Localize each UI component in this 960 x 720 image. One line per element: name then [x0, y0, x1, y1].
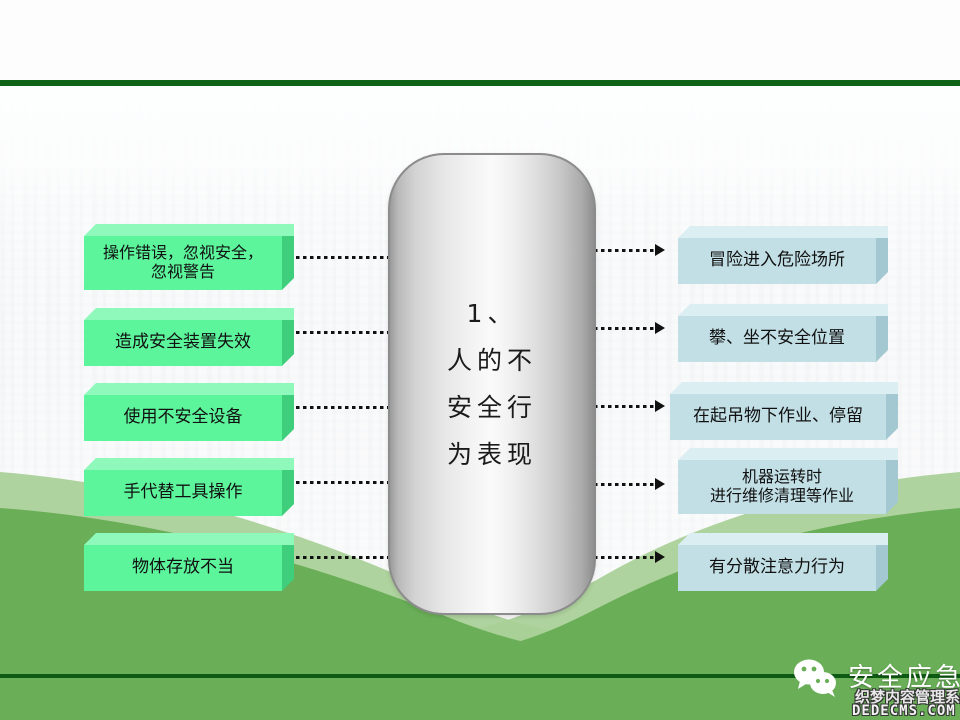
arrow-head-right-4	[655, 478, 665, 490]
top-divider-rule	[0, 80, 960, 86]
left-box-3-front-face: 使用不安全设备	[84, 395, 282, 441]
right-box-4[interactable]: 机器运转时 进行维修清理等作业	[678, 448, 886, 514]
right-box-1-label: 冒险进入危险场所	[709, 251, 845, 271]
connector-right-4	[594, 483, 656, 486]
connector-left-2	[296, 331, 396, 334]
connector-right-2	[594, 327, 656, 330]
connector-left-3	[296, 406, 396, 409]
arrow-head-right-1	[655, 244, 665, 256]
connector-right-5	[594, 556, 656, 559]
left-box-3-label: 使用不安全设备	[124, 408, 243, 428]
center-topic-shape[interactable]: 1、 人的不 安全行 为表现	[388, 153, 596, 615]
connector-left-4	[296, 481, 396, 484]
right-box-2-top-face	[678, 304, 888, 316]
left-box-5[interactable]: 物体存放不当	[84, 533, 282, 591]
connector-left-1	[296, 256, 396, 259]
left-box-3-top-face	[84, 383, 294, 395]
right-box-1-top-face	[678, 226, 888, 238]
right-box-1-front-face: 冒险进入危险场所	[678, 238, 876, 284]
left-box-4-label: 手代替工具操作	[124, 483, 243, 503]
right-box-3-label: 在起吊物下作业、停留	[693, 407, 863, 427]
center-line-3: 安全行	[447, 395, 537, 420]
right-box-5-front-face: 有分散注意力行为	[678, 545, 876, 591]
left-box-1-label-line1: 操作错误，忽视安全，	[103, 244, 263, 263]
left-box-2-front-face: 造成安全装置失效	[84, 320, 282, 366]
arrow-head-right-5	[655, 551, 665, 563]
right-box-4-top-face	[678, 448, 898, 460]
left-box-1-front-face: 操作错误，忽视安全， 忽视警告	[84, 236, 282, 290]
right-box-2[interactable]: 攀、坐不安全位置	[678, 304, 876, 362]
arrow-head-right-2	[655, 322, 665, 334]
right-box-1[interactable]: 冒险进入危险场所	[678, 226, 876, 284]
left-box-2-top-face	[84, 308, 294, 320]
left-box-1-label-line2: 忽视警告	[151, 263, 215, 282]
connector-right-3	[594, 405, 656, 408]
watermark-domain: DEDECMS.COM	[852, 703, 956, 719]
center-line-1: 1、	[467, 301, 518, 326]
left-box-4-front-face: 手代替工具操作	[84, 470, 282, 516]
left-box-1[interactable]: 操作错误，忽视安全， 忽视警告	[84, 224, 282, 290]
left-box-5-label: 物体存放不当	[132, 558, 234, 578]
arrow-head-right-3	[655, 400, 665, 412]
right-box-2-front-face: 攀、坐不安全位置	[678, 316, 876, 362]
slide-canvas: 1、 人的不 安全行 为表现 操作错误，忽视安全， 忽视警告 造成安全装置失效 …	[0, 0, 960, 720]
left-box-5-top-face	[84, 533, 294, 545]
center-line-4: 为表现	[447, 442, 537, 467]
center-line-2: 人的不	[447, 348, 537, 373]
right-box-2-label: 攀、坐不安全位置	[709, 329, 845, 349]
right-box-5-label: 有分散注意力行为	[709, 558, 845, 578]
right-box-3[interactable]: 在起吊物下作业、停留	[670, 382, 886, 440]
left-box-2-label: 造成安全装置失效	[115, 333, 251, 353]
left-box-3[interactable]: 使用不安全设备	[84, 383, 282, 441]
left-box-2[interactable]: 造成安全装置失效	[84, 308, 282, 366]
right-box-4-label-line1: 机器运转时	[742, 468, 822, 487]
right-box-3-front-face: 在起吊物下作业、停留	[670, 394, 886, 440]
right-box-5-top-face	[678, 533, 888, 545]
left-box-5-front-face: 物体存放不当	[84, 545, 282, 591]
right-box-5[interactable]: 有分散注意力行为	[678, 533, 876, 591]
connector-left-5	[296, 556, 396, 559]
right-box-4-label-line2: 进行维修清理等作业	[710, 487, 854, 506]
right-box-3-top-face	[670, 382, 898, 394]
connector-right-1	[594, 249, 656, 252]
right-box-4-front-face: 机器运转时 进行维修清理等作业	[678, 460, 886, 514]
left-box-4[interactable]: 手代替工具操作	[84, 458, 282, 516]
wechat-icon	[792, 658, 840, 698]
left-box-1-top-face	[84, 224, 294, 236]
left-box-4-top-face	[84, 458, 294, 470]
